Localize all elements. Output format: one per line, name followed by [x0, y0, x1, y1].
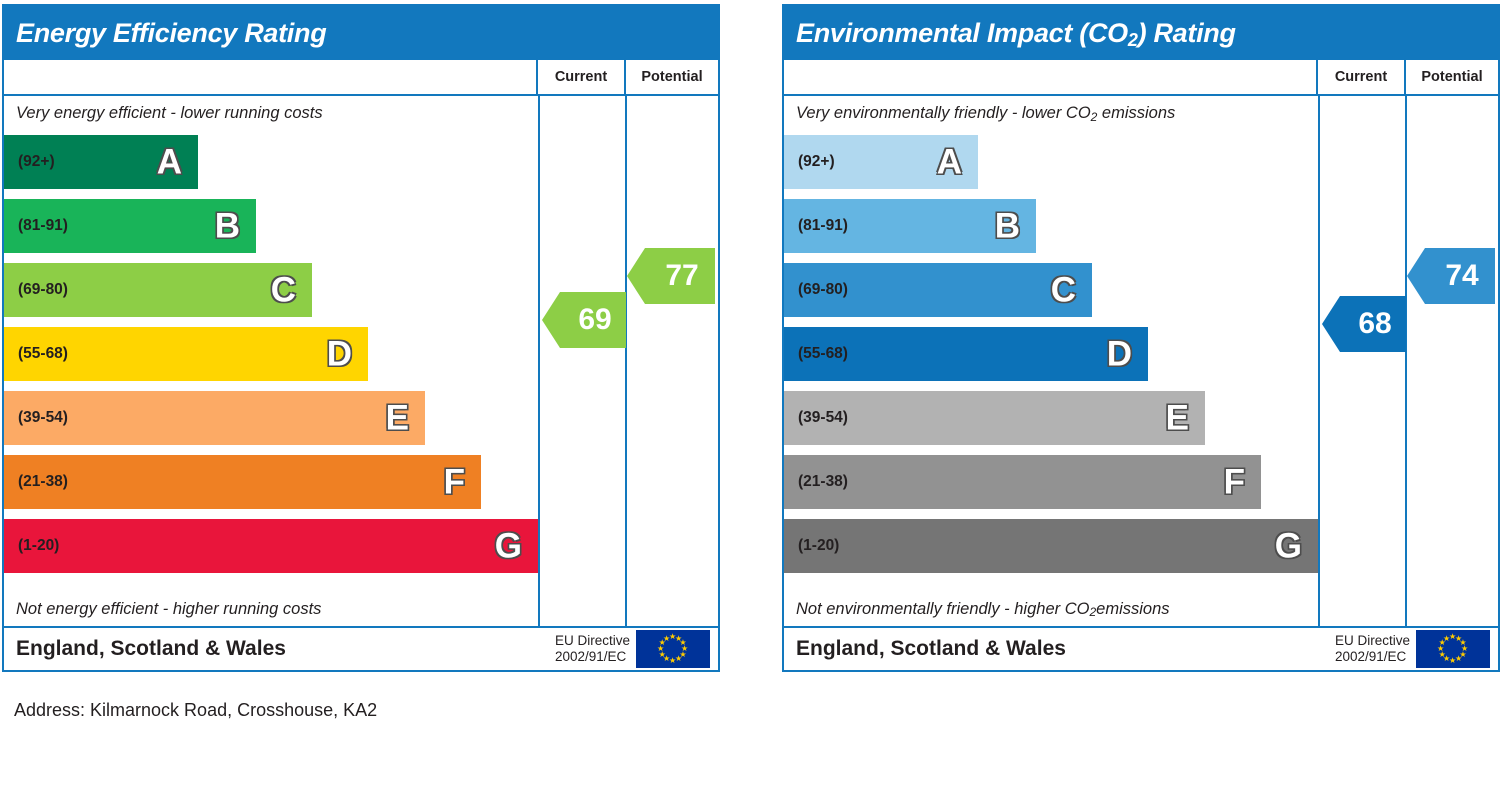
energy-potential-marker-arrow — [627, 248, 645, 304]
co2-top-note: Very environmentally friendly - lower CO… — [784, 96, 1318, 130]
band-row: (92+)A — [4, 130, 538, 194]
co2-band-d: (55-68)D — [784, 327, 1148, 381]
co2-band-f: (21-38)F — [784, 455, 1261, 509]
co2-bottom-note: Not environmentally friendly - higher CO… — [784, 592, 1318, 626]
co2-potential-value: 74 — [1441, 259, 1478, 293]
co2-band-e-range: (39-54) — [798, 409, 848, 427]
co2-title-main: Environmental Impact (CO — [796, 18, 1128, 48]
co2-potential-column-header: Potential — [1406, 60, 1498, 94]
co2-colhdr-spacer — [784, 60, 1318, 94]
co2-footer: England, Scotland & Wales EU Directive 2… — [784, 626, 1498, 670]
energy-bottom-note: Not energy efficient - higher running co… — [4, 592, 538, 626]
band-row: (1-20)G — [784, 514, 1318, 578]
energy-chart-title: Energy Efficiency Rating — [16, 18, 326, 49]
co2-current-marker-arrow — [1322, 296, 1340, 352]
co2-band-b-letter: B — [995, 209, 1020, 244]
co2-footer-region: England, Scotland & Wales — [784, 637, 1335, 661]
co2-potential-column: 74 — [1407, 96, 1498, 626]
energy-band-a-range: (92+) — [18, 153, 55, 171]
energy-top-note: Very energy efficient - lower running co… — [4, 96, 538, 130]
co2-band-g-range: (1-20) — [798, 537, 839, 555]
energy-band-f-range: (21-38) — [18, 473, 68, 491]
band-row: (69-80)C — [784, 258, 1318, 322]
co2-band-a: (92+)A — [784, 135, 978, 189]
energy-chart-header: Energy Efficiency Rating — [4, 6, 718, 60]
co2-top-note-post: emissions — [1097, 104, 1175, 122]
energy-band-b-range: (81-91) — [18, 217, 68, 235]
co2-title-sub: 2 — [1128, 30, 1138, 50]
co2-band-g-letter: G — [1275, 529, 1302, 564]
co2-current-marker: 68 — [1340, 296, 1406, 352]
co2-current-column: 68 — [1320, 96, 1407, 626]
band-row: (55-68)D — [784, 322, 1318, 386]
band-row: (55-68)D — [4, 322, 538, 386]
co2-band-rows: (92+)A (81-91)B (69-80)C (55-68)D (39-54… — [784, 130, 1318, 592]
energy-footer-directive: EU Directive 2002/91/EC — [555, 633, 636, 664]
co2-bottom-note-sub: 2 — [1089, 605, 1096, 619]
energy-band-d: (55-68)D — [4, 327, 368, 381]
energy-current-value: 69 — [574, 303, 611, 337]
energy-bands-area: Very energy efficient - lower running co… — [4, 96, 540, 626]
co2-footer-directive: EU Directive 2002/91/EC — [1335, 633, 1416, 664]
co2-top-note-pre: Very environmentally friendly - lower CO — [796, 104, 1091, 122]
energy-band-b: (81-91)B — [4, 199, 256, 253]
energy-band-c-letter: C — [271, 273, 296, 308]
co2-band-c: (69-80)C — [784, 263, 1092, 317]
co2-band-c-range: (69-80) — [798, 281, 848, 299]
energy-potential-column-header: Potential — [626, 60, 718, 94]
co2-top-note-sub: 2 — [1091, 110, 1098, 124]
energy-current-column: 69 — [540, 96, 627, 626]
co2-bottom-note-pre: Not environmentally friendly - higher CO — [796, 600, 1089, 619]
energy-efficiency-rating-chart: Energy Efficiency Rating Current Potenti… — [2, 4, 720, 672]
energy-colhdr-spacer — [4, 60, 538, 94]
co2-band-a-range: (92+) — [798, 153, 835, 171]
co2-band-b-range: (81-91) — [798, 217, 848, 235]
energy-band-c-range: (69-80) — [18, 281, 68, 299]
energy-potential-column: 77 — [627, 96, 718, 626]
co2-bottom-note-post: emissions — [1096, 600, 1169, 619]
band-row: (81-91)B — [784, 194, 1318, 258]
energy-current-marker-arrow — [542, 292, 560, 348]
energy-band-e-range: (39-54) — [18, 409, 68, 427]
energy-band-f-letter: F — [444, 465, 465, 500]
band-row: (81-91)B — [4, 194, 538, 258]
co2-current-column-header: Current — [1318, 60, 1406, 94]
energy-band-g-letter: G — [495, 529, 522, 564]
co2-band-f-range: (21-38) — [798, 473, 848, 491]
co2-directive-line2: 2002/91/EC — [1335, 649, 1410, 665]
energy-band-e-letter: E — [386, 401, 409, 436]
band-row: (92+)A — [784, 130, 1318, 194]
band-row: (1-20)G — [4, 514, 538, 578]
energy-potential-marker: 77 — [645, 248, 715, 304]
energy-footer-region: England, Scotland & Wales — [4, 637, 555, 661]
band-row: (21-38)F — [4, 450, 538, 514]
energy-band-a-letter: A — [157, 145, 182, 180]
energy-band-f: (21-38)F — [4, 455, 481, 509]
energy-band-e: (39-54)E — [4, 391, 425, 445]
eu-flag-icon: ★★★★★★★★★★★★ — [1416, 630, 1490, 668]
energy-chart-body: Very energy efficient - lower running co… — [4, 96, 718, 626]
energy-band-d-range: (55-68) — [18, 345, 68, 363]
energy-potential-value: 77 — [661, 259, 698, 293]
co2-potential-marker-arrow — [1407, 248, 1425, 304]
environmental-impact-rating-chart: Environmental Impact (CO2) Rating Curren… — [782, 4, 1500, 672]
energy-band-b-letter: B — [215, 209, 240, 244]
band-row: (39-54)E — [4, 386, 538, 450]
energy-band-g: (1-20)G — [4, 519, 538, 573]
energy-band-d-letter: D — [327, 337, 352, 372]
eu-star-icon: ★ — [663, 635, 670, 643]
eu-star-icon: ★ — [1443, 635, 1450, 643]
co2-chart-body: Very environmentally friendly - lower CO… — [784, 96, 1498, 626]
co2-directive-line1: EU Directive — [1335, 633, 1410, 649]
eu-flag-icon: ★★★★★★★★★★★★ — [636, 630, 710, 668]
energy-current-marker: 69 — [560, 292, 626, 348]
co2-band-a-letter: A — [937, 145, 962, 180]
co2-current-value: 68 — [1354, 307, 1391, 341]
co2-band-d-letter: D — [1107, 337, 1132, 372]
co2-title-tail: ) Rating — [1138, 18, 1236, 48]
band-row: (69-80)C — [4, 258, 538, 322]
co2-band-c-letter: C — [1051, 273, 1076, 308]
co2-chart-title: Environmental Impact (CO2) Rating — [796, 18, 1236, 49]
energy-directive-line2: 2002/91/EC — [555, 649, 630, 665]
co2-band-e-letter: E — [1166, 401, 1189, 436]
energy-current-column-header: Current — [538, 60, 626, 94]
energy-directive-line1: EU Directive — [555, 633, 630, 649]
energy-band-rows: (92+)A (81-91)B (69-80)C (55-68)D (39-54… — [4, 130, 538, 592]
co2-column-headers: Current Potential — [784, 60, 1498, 96]
property-address: Address: Kilmarnock Road, Crosshouse, KA… — [14, 700, 377, 721]
co2-band-d-range: (55-68) — [798, 345, 848, 363]
co2-band-b: (81-91)B — [784, 199, 1036, 253]
co2-bands-area: Very environmentally friendly - lower CO… — [784, 96, 1320, 626]
band-row: (39-54)E — [784, 386, 1318, 450]
energy-band-c: (69-80)C — [4, 263, 312, 317]
energy-footer: England, Scotland & Wales EU Directive 2… — [4, 626, 718, 670]
band-row: (21-38)F — [784, 450, 1318, 514]
co2-band-e: (39-54)E — [784, 391, 1205, 445]
energy-band-a: (92+)A — [4, 135, 198, 189]
energy-column-headers: Current Potential — [4, 60, 718, 96]
co2-potential-marker: 74 — [1425, 248, 1495, 304]
co2-band-f-letter: F — [1224, 465, 1245, 500]
energy-band-g-range: (1-20) — [18, 537, 59, 555]
co2-band-g: (1-20)G — [784, 519, 1318, 573]
co2-chart-header: Environmental Impact (CO2) Rating — [784, 6, 1498, 60]
